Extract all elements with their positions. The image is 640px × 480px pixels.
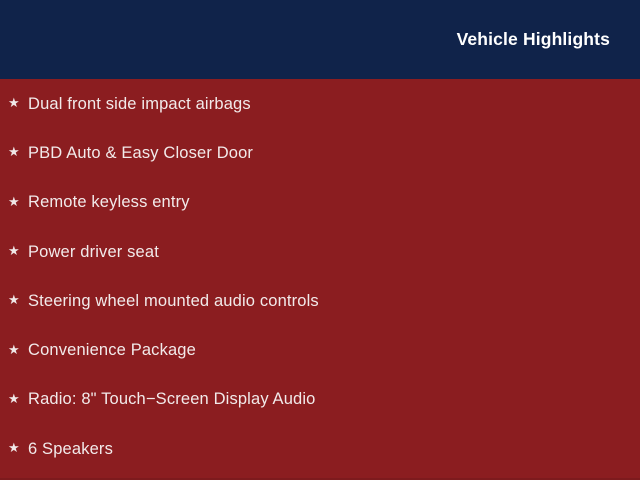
- vehicle-highlights-slide: Vehicle Highlights ★ Dual front side imp…: [0, 0, 640, 480]
- star-icon: ★: [8, 195, 28, 208]
- list-item: ★ Convenience Package: [0, 325, 640, 374]
- star-icon: ★: [8, 441, 28, 454]
- star-icon: ★: [8, 244, 28, 257]
- highlights-panel: ★ Dual front side impact airbags ★ PBD A…: [0, 79, 640, 480]
- star-icon: ★: [8, 343, 28, 356]
- star-icon: ★: [8, 392, 28, 405]
- page-title: Vehicle Highlights: [457, 28, 610, 50]
- list-item-label: PBD Auto & Easy Closer Door: [28, 143, 253, 163]
- list-item-label: Steering wheel mounted audio controls: [28, 291, 319, 311]
- list-item: ★ 6 Speakers: [0, 424, 640, 473]
- highlights-list: ★ Dual front side impact airbags ★ PBD A…: [0, 79, 640, 473]
- list-item: ★ Steering wheel mounted audio controls: [0, 276, 640, 325]
- list-item-label: Power driver seat: [28, 242, 159, 262]
- list-item-label: Dual front side impact airbags: [28, 94, 251, 114]
- slide-header: Vehicle Highlights: [0, 0, 640, 79]
- list-item-label: Remote keyless entry: [28, 192, 190, 212]
- list-item-label: Convenience Package: [28, 340, 196, 360]
- list-item-label: 6 Speakers: [28, 439, 113, 459]
- list-item: ★ Dual front side impact airbags: [0, 79, 640, 128]
- list-item-label: Radio: 8" Touch−Screen Display Audio: [28, 389, 316, 409]
- list-item: ★ Remote keyless entry: [0, 178, 640, 227]
- star-icon: ★: [8, 293, 28, 306]
- star-icon: ★: [8, 145, 28, 158]
- list-item: ★ PBD Auto & Easy Closer Door: [0, 128, 640, 177]
- star-icon: ★: [8, 96, 28, 109]
- list-item: ★ Power driver seat: [0, 227, 640, 276]
- list-item: ★ Radio: 8" Touch−Screen Display Audio: [0, 375, 640, 424]
